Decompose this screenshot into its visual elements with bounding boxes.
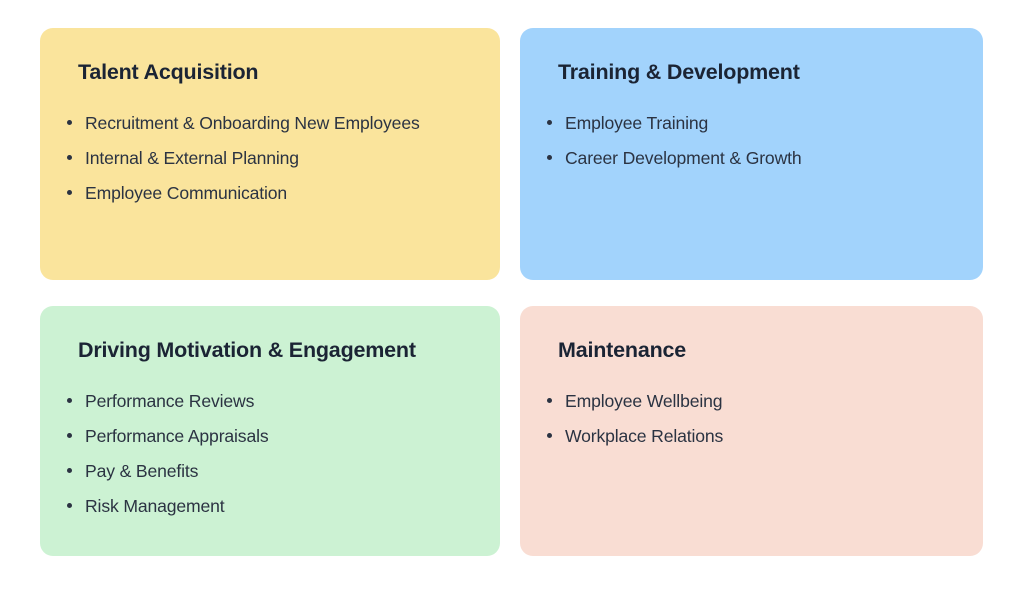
list-item-label: Internal & External Planning — [85, 148, 299, 168]
card-list-training-development: Employee TrainingCareer Development & Gr… — [547, 112, 953, 170]
list-item: Workplace Relations — [547, 425, 953, 448]
list-item-label: Career Development & Growth — [565, 148, 802, 168]
bullet-icon — [547, 398, 552, 403]
bullet-icon — [67, 398, 72, 403]
card-talent-acquisition: Talent AcquisitionRecruitment & Onboardi… — [40, 28, 500, 280]
list-item: Performance Reviews — [67, 390, 470, 413]
list-item-label: Workplace Relations — [565, 426, 723, 446]
list-item-label: Employee Training — [565, 113, 708, 133]
list-item-label: Recruitment & Onboarding New Employees — [85, 113, 420, 133]
card-title-training-development: Training & Development — [558, 60, 953, 86]
list-item-label: Performance Appraisals — [85, 426, 268, 446]
bullet-icon — [67, 503, 72, 508]
list-item: Performance Appraisals — [67, 425, 470, 448]
list-item: Employee Training — [547, 112, 953, 135]
card-grid: Talent AcquisitionRecruitment & Onboardi… — [0, 0, 1024, 599]
card-maintenance: MaintenanceEmployee WellbeingWorkplace R… — [520, 306, 983, 556]
list-item: Pay & Benefits — [67, 460, 470, 483]
list-item-label: Employee Communication — [85, 183, 287, 203]
bullet-icon — [547, 433, 552, 438]
bullet-icon — [547, 155, 552, 160]
card-title-talent-acquisition: Talent Acquisition — [78, 60, 470, 86]
card-title-maintenance: Maintenance — [558, 338, 953, 364]
list-item: Employee Communication — [67, 182, 470, 205]
bullet-icon — [67, 433, 72, 438]
list-item-label: Performance Reviews — [85, 391, 254, 411]
list-item: Recruitment & Onboarding New Employees — [67, 112, 470, 135]
bullet-icon — [67, 468, 72, 473]
list-item: Risk Management — [67, 495, 470, 518]
card-training-development: Training & DevelopmentEmployee TrainingC… — [520, 28, 983, 280]
list-item: Career Development & Growth — [547, 147, 953, 170]
bullet-icon — [547, 120, 552, 125]
card-title-driving-motivation-engagement: Driving Motivation & Engagement — [78, 338, 470, 364]
card-driving-motivation-engagement: Driving Motivation & EngagementPerforman… — [40, 306, 500, 556]
list-item-label: Employee Wellbeing — [565, 391, 722, 411]
card-list-driving-motivation-engagement: Performance ReviewsPerformance Appraisal… — [67, 390, 470, 518]
list-item-label: Risk Management — [85, 496, 225, 516]
list-item: Internal & External Planning — [67, 147, 470, 170]
bullet-icon — [67, 155, 72, 160]
bullet-icon — [67, 120, 72, 125]
list-item-label: Pay & Benefits — [85, 461, 198, 481]
list-item: Employee Wellbeing — [547, 390, 953, 413]
card-list-maintenance: Employee WellbeingWorkplace Relations — [547, 390, 953, 448]
bullet-icon — [67, 190, 72, 195]
card-list-talent-acquisition: Recruitment & Onboarding New EmployeesIn… — [67, 112, 470, 205]
